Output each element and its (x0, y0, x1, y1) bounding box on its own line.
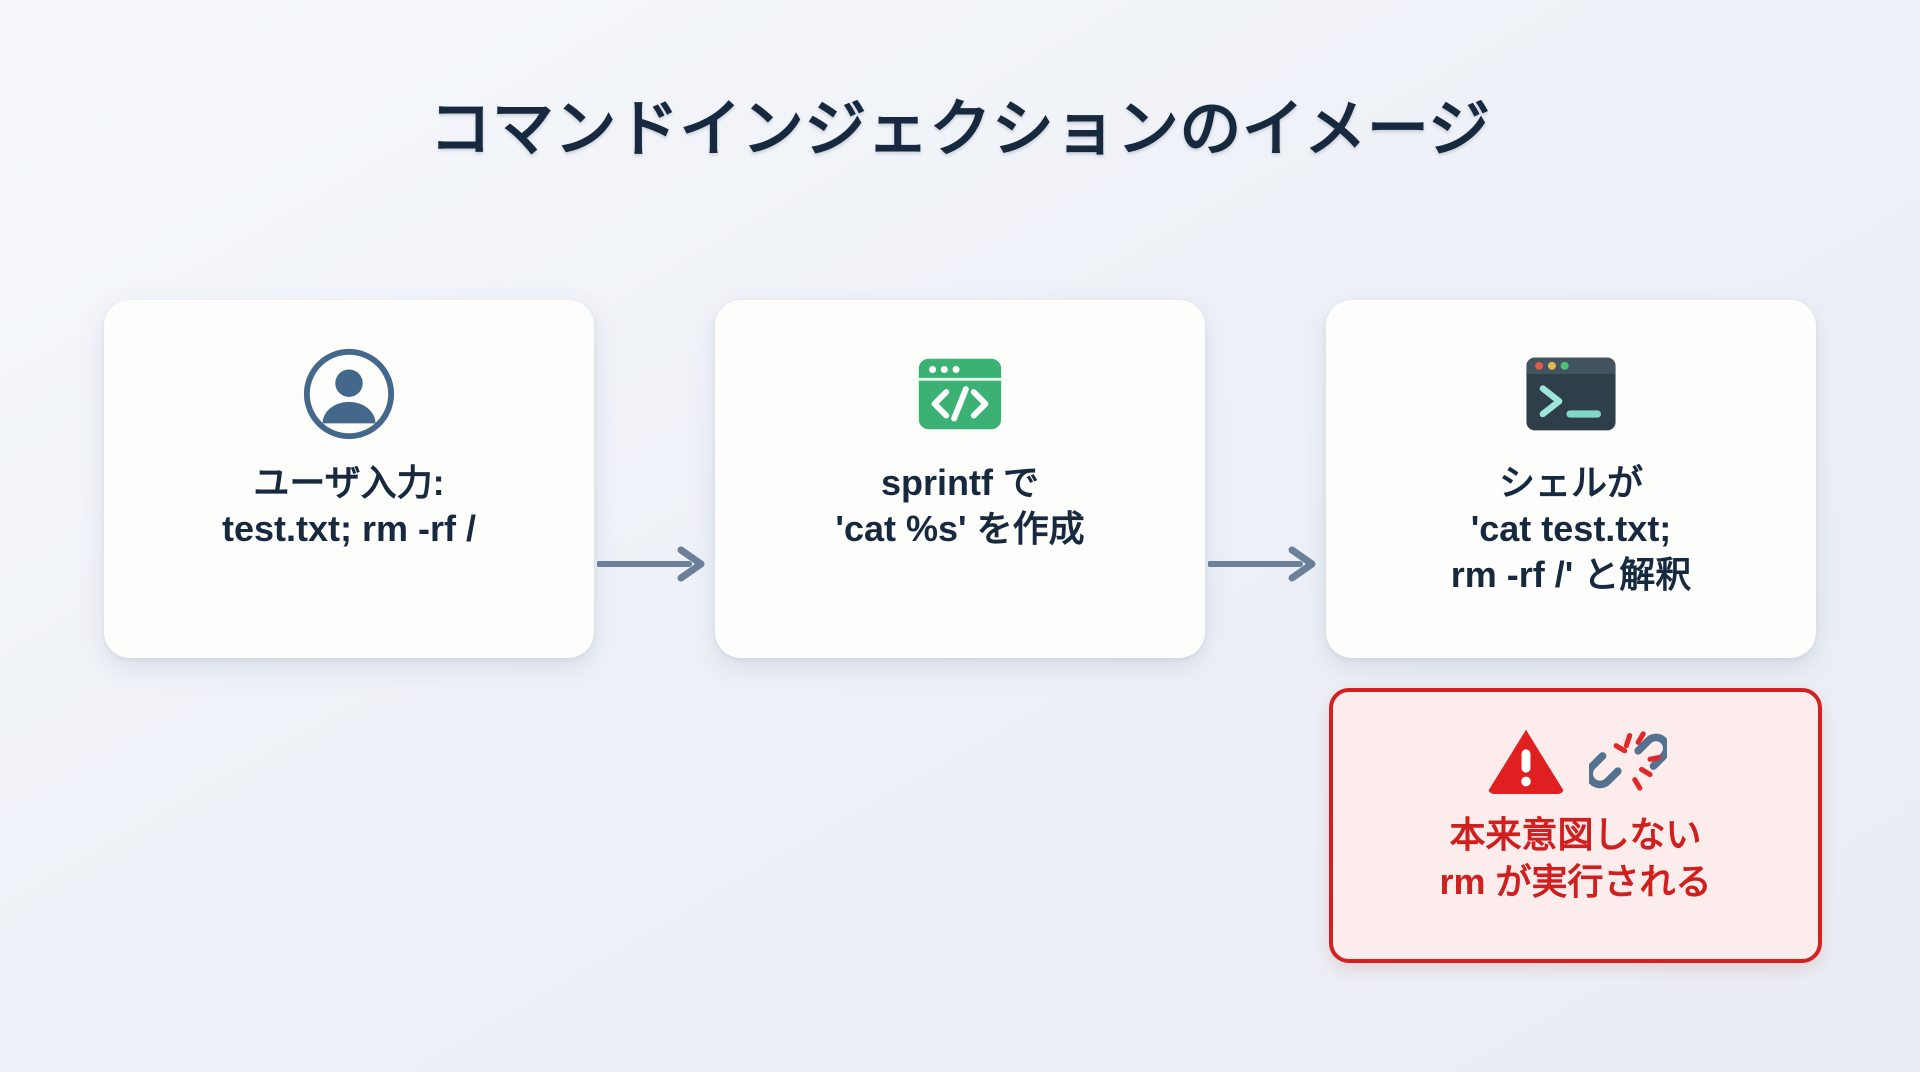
flow-card-line: sprintf で (835, 460, 1084, 506)
flow-card-text: シェルが 'cat test.txt; rm -rf /' と解釈 (1433, 460, 1710, 598)
flow-card-line: 'cat test.txt; (1451, 506, 1692, 552)
flow-card-shell: シェルが 'cat test.txt; rm -rf /' と解釈 (1326, 300, 1816, 658)
flow-card-line: ユーザ入力: (222, 460, 476, 506)
code-window-icon (911, 342, 1009, 446)
warning-box: 本来意図しない rm が実行される (1329, 688, 1822, 963)
warning-icon-row (1485, 718, 1667, 804)
flow-card-line: rm -rf /' と解釈 (1451, 552, 1692, 598)
warning-line: rm が実行される (1439, 859, 1711, 906)
warning-message: 本来意図しない rm が実行される (1439, 812, 1711, 906)
terminal-icon (1521, 342, 1621, 446)
warning-triangle-icon (1485, 724, 1567, 798)
flow-card-line: 'cat %s' を作成 (835, 506, 1084, 552)
arrow-right-icon (1208, 544, 1324, 584)
flow-arrow-1 (594, 300, 715, 658)
page-title: コマンドインジェクションのイメージ (0, 78, 1920, 168)
user-avatar-icon (300, 342, 398, 446)
flow-diagram: ユーザ入力: test.txt; rm -rf / sprintf で (104, 300, 1816, 660)
arrow-right-icon (597, 544, 713, 584)
flow-card-line: test.txt; rm -rf / (222, 506, 476, 552)
flow-card-sprintf: sprintf で 'cat %s' を作成 (715, 300, 1205, 658)
flow-card-text: ユーザ入力: test.txt; rm -rf / (204, 460, 494, 552)
flow-arrow-2 (1205, 300, 1326, 658)
flow-card-text: sprintf で 'cat %s' を作成 (817, 460, 1102, 552)
flow-card-line: シェルが (1451, 460, 1692, 506)
broken-link-icon (1589, 722, 1667, 800)
flow-card-user-input: ユーザ入力: test.txt; rm -rf / (104, 300, 594, 658)
warning-line: 本来意図しない (1439, 812, 1711, 859)
